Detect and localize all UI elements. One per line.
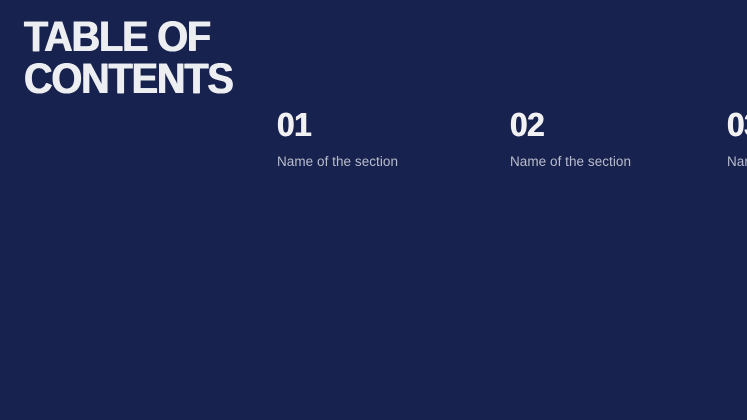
page-title-line-2: CONTENTS	[24, 58, 263, 100]
toc-number: 01	[277, 108, 501, 141]
toc-item-01[interactable]: 01 Name of the section	[277, 108, 510, 211]
toc-number: 03	[727, 108, 747, 141]
table-of-contents-slide: TABLE OF CONTENTS 01 Name of the section…	[0, 0, 747, 420]
toc-item-03[interactable]: 03 Name of the section	[727, 108, 747, 211]
toc-item-02[interactable]: 02 Name of the section	[510, 108, 727, 211]
page-title: TABLE OF CONTENTS	[24, 16, 284, 100]
toc-number: 02	[510, 108, 718, 141]
toc-label: Name of the section	[727, 154, 747, 170]
contents-grid: 01 Name of the section 02 Name of the se…	[277, 108, 727, 211]
toc-label: Name of the section	[277, 154, 510, 170]
toc-label: Name of the section	[510, 154, 727, 170]
page-title-line-1: TABLE OF	[24, 16, 263, 58]
